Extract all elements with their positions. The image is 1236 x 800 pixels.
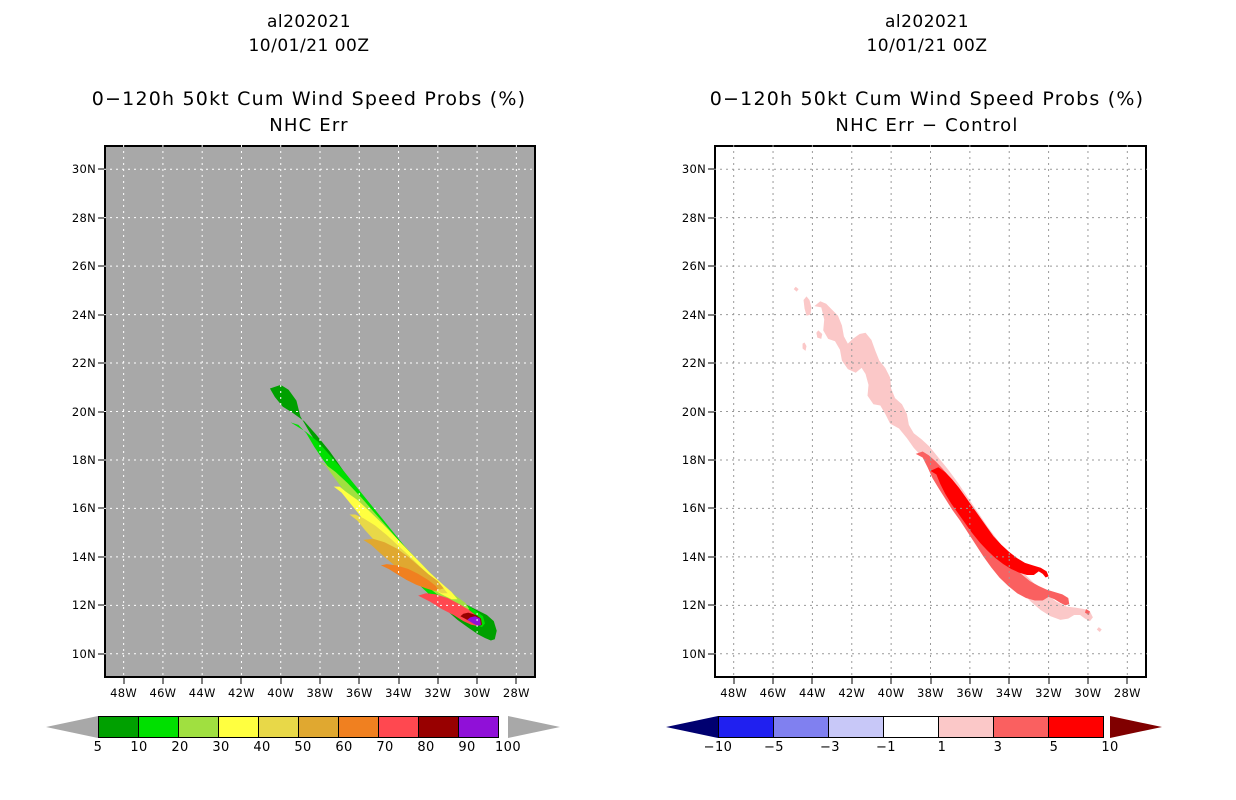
x-axis-tick-label: 44W [799, 686, 826, 700]
prob-colorbar: 5102030405060708090100 [98, 716, 508, 760]
colorbar-swatch[interactable] [718, 716, 774, 738]
storm-id-text: al202021 [267, 12, 351, 32]
contour-band-1-3 [814, 301, 1093, 621]
y-axis-tick-mark [98, 363, 104, 364]
x-axis-tick-mark [398, 678, 399, 684]
x-axis-tick-mark [773, 678, 774, 684]
y-axis-tick-mark [98, 411, 104, 412]
x-axis-tick-mark [1048, 678, 1049, 684]
colorbar-swatch[interactable] [458, 716, 499, 738]
x-axis-tick-label: 36W [956, 686, 983, 700]
colorbar-swatch[interactable] [218, 716, 259, 738]
y-axis-tick-mark [708, 314, 714, 315]
colorbar-swatch[interactable] [258, 716, 299, 738]
y-axis-tick-mark [708, 508, 714, 509]
x-axis-tick-label: 48W [110, 686, 137, 700]
colorbar-tick-labels: −10−5−3−113510 [718, 740, 1110, 758]
difference-colorbar: −10−5−3−113510 [718, 716, 1110, 760]
panel-right-subtitle: NHC Err − Control [618, 115, 1236, 136]
colorbar-over-arrow [508, 716, 560, 738]
colorbar-tick-label: 10 [130, 740, 147, 755]
y-axis-tick-label: 28N [672, 211, 706, 225]
colorbar-tick-label: 40 [253, 740, 270, 755]
y-axis-tick-mark [98, 314, 104, 315]
x-axis-tick-label: 30W [1075, 686, 1102, 700]
contour-minor-feature-2 [803, 342, 807, 350]
colorbar-tick-label: 90 [458, 740, 475, 755]
gridlines [714, 145, 1147, 678]
x-axis-tick-label: 48W [720, 686, 747, 700]
x-axis-tick-label: 38W [307, 686, 334, 700]
x-axis-tick-label: 28W [1114, 686, 1141, 700]
y-axis-tick-label: 28N [62, 211, 96, 225]
y-axis-tick-mark [708, 653, 714, 654]
colorbar-tick-label: 50 [294, 740, 311, 755]
y-axis-tick-label: 30N [672, 162, 706, 176]
y-axis-tick-label: 10N [62, 647, 96, 661]
y-axis-tick-mark [98, 508, 104, 509]
y-axis-tick-mark [98, 266, 104, 267]
x-axis-tick-label: 36W [346, 686, 373, 700]
y-axis-tick-label: 16N [672, 501, 706, 515]
y-axis-tick-mark [98, 169, 104, 170]
x-axis-tick-label: 30W [464, 686, 491, 700]
colorbar-under-arrow [666, 716, 718, 738]
panel-left-subtitle: NHC Err [0, 115, 618, 136]
colorbar-swatch[interactable] [378, 716, 419, 738]
y-axis-tick-mark [708, 169, 714, 170]
title-main-text: 0−120h 50kt Cum Wind Speed Probs (%) [710, 88, 1145, 110]
y-axis-tick-mark [708, 266, 714, 267]
x-axis-tick-mark [812, 678, 813, 684]
map-plot-difference [714, 145, 1147, 678]
y-axis-tick-label: 16N [62, 501, 96, 515]
x-axis-tick-label: 28W [503, 686, 530, 700]
x-axis-tick-mark [241, 678, 242, 684]
colorbar-swatch[interactable] [993, 716, 1049, 738]
x-axis-tick-mark [1127, 678, 1128, 684]
y-axis-tick-label: 20N [62, 405, 96, 419]
x-axis-tick-label: 40W [267, 686, 294, 700]
storm-id-text: al202021 [885, 12, 969, 32]
colorbar-tick-label: 80 [417, 740, 434, 755]
colorbar-tick-label: −1 [876, 740, 896, 755]
panel-right-storm-id: al202021 [618, 12, 1236, 32]
colorbar-swatch[interactable] [178, 716, 219, 738]
y-axis-tick-label: 18N [672, 453, 706, 467]
x-axis-tick-mark [320, 678, 321, 684]
colorbar-tick-label: 60 [335, 740, 352, 755]
colorbar-tick-label: −10 [704, 740, 733, 755]
x-axis-tick-label: 32W [424, 686, 451, 700]
x-axis-tick-label: 32W [1035, 686, 1062, 700]
y-axis-tick-mark [708, 556, 714, 557]
colorbar-swatch[interactable] [938, 716, 994, 738]
colorbar-swatch[interactable] [138, 716, 179, 738]
contour-field-right [714, 145, 1147, 678]
colorbar-tick-label: 30 [212, 740, 229, 755]
y-axis-tick-mark [708, 363, 714, 364]
contour-minor-feature-4 [1097, 627, 1102, 632]
colorbar-tick-label: 10 [1101, 740, 1118, 755]
colorbar-tick-label: −3 [820, 740, 840, 755]
y-axis-tick-label: 20N [672, 405, 706, 419]
x-axis-tick-label: 46W [149, 686, 176, 700]
y-axis-tick-label: 30N [62, 162, 96, 176]
x-axis-tick-label: 34W [996, 686, 1023, 700]
x-axis-tick-mark [123, 678, 124, 684]
y-axis-tick-mark [708, 217, 714, 218]
x-axis-tick-mark [162, 678, 163, 684]
y-axis-tick-mark [98, 459, 104, 460]
panel-left-title: 0−120h 50kt Cum Wind Speed Probs (%) [0, 88, 618, 110]
x-axis-tick-mark [1087, 678, 1088, 684]
colorbar-tick-label: −5 [764, 740, 784, 755]
colorbar-tick-label: 70 [376, 740, 393, 755]
x-axis-tick-label: 46W [760, 686, 787, 700]
x-axis-tick-mark [969, 678, 970, 684]
y-axis-tick-label: 26N [672, 259, 706, 273]
x-axis-tick-mark [477, 678, 478, 684]
datetime-text: 10/01/21 00Z [866, 36, 987, 56]
y-axis-tick-label: 18N [62, 453, 96, 467]
x-axis-tick-label: 40W [878, 686, 905, 700]
colorbar-tick-label: 1 [938, 740, 947, 755]
y-axis-tick-mark [708, 459, 714, 460]
x-axis-tick-mark [280, 678, 281, 684]
colorbar-swatch[interactable] [828, 716, 884, 738]
y-axis-tick-label: 26N [62, 259, 96, 273]
x-axis-tick-label: 34W [385, 686, 412, 700]
y-axis-tick-mark [98, 653, 104, 654]
colorbar-over-arrow [1110, 716, 1162, 738]
y-axis-tick-mark [708, 411, 714, 412]
colorbar-swatch[interactable] [883, 716, 939, 738]
y-axis-tick-mark [708, 605, 714, 606]
y-axis-tick-label: 14N [672, 550, 706, 564]
y-axis-tick-label: 10N [672, 647, 706, 661]
x-axis-tick-label: 42W [838, 686, 865, 700]
x-axis-tick-label: 38W [917, 686, 944, 700]
panel-left-storm-id: al202021 [0, 12, 618, 32]
contour-minor-feature-0 [804, 296, 812, 315]
colorbar-tick-label: 3 [994, 740, 1003, 755]
colorbar-swatch[interactable] [298, 716, 339, 738]
y-axis-tick-label: 24N [672, 308, 706, 322]
colorbar-swatch[interactable] [1048, 716, 1104, 738]
x-axis-tick-mark [437, 678, 438, 684]
y-axis-tick-label: 24N [62, 308, 96, 322]
colorbar-swatch[interactable] [338, 716, 379, 738]
gridlines [104, 145, 536, 678]
colorbar-swatch[interactable] [418, 716, 459, 738]
y-axis-tick-label: 12N [672, 598, 706, 612]
contour-field-left [104, 145, 536, 678]
contour-band-30-40 [334, 487, 458, 600]
x-axis-tick-mark [851, 678, 852, 684]
colorbar-swatch[interactable] [98, 716, 139, 738]
colorbar-tick-labels: 5102030405060708090100 [98, 740, 508, 758]
colorbar-under-arrow [46, 716, 98, 738]
y-axis-tick-mark [98, 605, 104, 606]
title-sub-text: NHC Err − Control [835, 115, 1018, 136]
colorbar-swatch[interactable] [773, 716, 829, 738]
y-axis-tick-mark [98, 217, 104, 218]
x-axis-tick-mark [359, 678, 360, 684]
x-axis-tick-mark [1009, 678, 1010, 684]
x-axis-tick-mark [930, 678, 931, 684]
panel-right-datetime: 10/01/21 00Z [618, 36, 1236, 56]
colorbar-tick-label: 5 [1050, 740, 1059, 755]
colorbar-tick-label: 20 [171, 740, 188, 755]
contour-minor-feature-3 [794, 287, 799, 292]
colorbar-swatches [98, 716, 508, 738]
y-axis-tick-mark [98, 556, 104, 557]
panel-right-title: 0−120h 50kt Cum Wind Speed Probs (%) [618, 88, 1236, 110]
panel-left-datetime: 10/01/21 00Z [0, 36, 618, 56]
y-axis-tick-label: 12N [62, 598, 96, 612]
contour-minor-feature-1 [816, 330, 822, 338]
panel-nhc-err-minus-control: al202021 10/01/21 00Z 0−120h 50kt Cum Wi… [618, 0, 1236, 800]
x-axis-tick-mark [516, 678, 517, 684]
colorbar-tick-label: 5 [94, 740, 103, 755]
colorbar-tick-label: 100 [495, 740, 521, 755]
y-axis-tick-label: 14N [62, 550, 96, 564]
y-axis-tick-label: 22N [62, 356, 96, 370]
panel-nhc-err: al202021 10/01/21 00Z 0−120h 50kt Cum Wi… [0, 0, 618, 800]
x-axis-tick-mark [733, 678, 734, 684]
figure-root: al202021 10/01/21 00Z 0−120h 50kt Cum Wi… [0, 0, 1236, 800]
colorbar-swatches [718, 716, 1110, 738]
title-sub-text: NHC Err [269, 115, 349, 136]
title-main-text: 0−120h 50kt Cum Wind Speed Probs (%) [92, 88, 527, 110]
x-axis-tick-label: 42W [228, 686, 255, 700]
x-axis-tick-mark [202, 678, 203, 684]
map-plot-nhc-err [104, 145, 536, 678]
x-axis-tick-label: 44W [189, 686, 216, 700]
x-axis-tick-mark [891, 678, 892, 684]
datetime-text: 10/01/21 00Z [248, 36, 369, 56]
y-axis-tick-label: 22N [672, 356, 706, 370]
